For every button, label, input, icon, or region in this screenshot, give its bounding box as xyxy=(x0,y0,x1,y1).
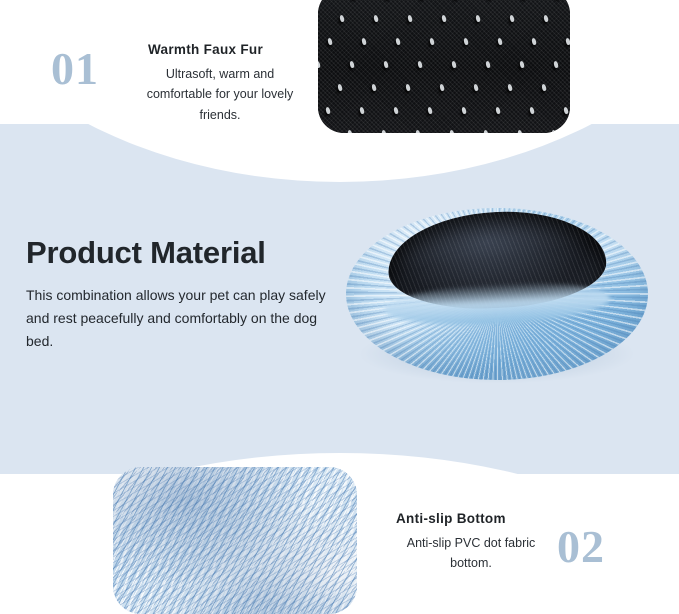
pvc-dot xyxy=(461,107,467,115)
feature-block-02: Anti-slip Bottom Anti-slip PVC dot fabri… xyxy=(396,511,546,574)
pvc-dot xyxy=(417,61,423,69)
feature-description-02: Anti-slip PVC dot fabric bottom. xyxy=(396,533,546,574)
pvc-dot xyxy=(347,130,353,133)
pvc-dot xyxy=(485,61,491,69)
feature-title-02: Anti-slip Bottom xyxy=(396,511,546,526)
fur-shading-overlay xyxy=(113,467,357,614)
pvc-dot xyxy=(393,107,399,115)
pvc-dot xyxy=(373,15,379,23)
pvc-dot xyxy=(415,130,421,133)
pvc-dot xyxy=(349,61,355,69)
pvc-dot xyxy=(325,107,331,115)
page-title: Product Material xyxy=(26,236,346,271)
pvc-dot xyxy=(531,38,537,46)
pvc-dot xyxy=(371,84,377,92)
pvc-dot xyxy=(429,38,435,46)
pvc-dot xyxy=(517,130,523,133)
pvc-dot xyxy=(541,84,547,92)
feature-description-01: Ultrasoft, warm and comfortable for your… xyxy=(140,64,300,125)
pvc-dot xyxy=(463,38,469,46)
pvc-dot xyxy=(327,38,333,46)
pvc-dot xyxy=(473,84,479,92)
blue-faux-fur-swatch xyxy=(113,467,357,614)
pvc-dot xyxy=(495,107,501,115)
pvc-dot xyxy=(529,107,535,115)
pvc-dot xyxy=(407,15,413,23)
main-text-block: Product Material This combination allows… xyxy=(26,236,346,353)
pvc-dot xyxy=(339,15,345,23)
pvc-dot xyxy=(439,84,445,92)
pvc-dot xyxy=(483,130,489,133)
pvc-dot-grid xyxy=(318,0,570,133)
pvc-dot xyxy=(361,38,367,46)
pvc-dot xyxy=(553,61,559,69)
pvc-dot xyxy=(475,15,481,23)
pvc-dot xyxy=(381,130,387,133)
pvc-dot xyxy=(359,107,365,115)
pvc-dot xyxy=(395,38,401,46)
pvc-dot xyxy=(509,15,515,23)
pvc-dot xyxy=(543,15,549,23)
pvc-dot xyxy=(451,61,457,69)
pvc-dot xyxy=(449,130,455,133)
feature-title-01: Warmth Faux Fur xyxy=(140,42,300,57)
product-material-infographic: 01 Warmth Faux Fur Ultrasoft, warm and c… xyxy=(0,0,679,614)
feature-number-01: 01 xyxy=(51,46,99,92)
pvc-dot xyxy=(405,84,411,92)
pvc-dot xyxy=(565,38,570,46)
page-description: This combination allows your pet can pla… xyxy=(26,284,346,354)
pvc-dot xyxy=(383,61,389,69)
round-plush-dog-bed-image xyxy=(336,196,658,396)
pvc-dot xyxy=(318,130,319,133)
pvc-dot-fabric-swatch xyxy=(318,0,570,133)
pvc-dot xyxy=(507,84,513,92)
pvc-dot xyxy=(551,130,557,133)
pvc-dot xyxy=(441,15,447,23)
pvc-dot xyxy=(318,61,321,69)
pvc-dot xyxy=(519,61,525,69)
pvc-dot xyxy=(337,84,343,92)
feature-number-02: 02 xyxy=(557,524,605,570)
pvc-dot xyxy=(563,107,569,115)
feature-block-01: Warmth Faux Fur Ultrasoft, warm and comf… xyxy=(140,42,300,125)
pvc-dot xyxy=(497,38,503,46)
pvc-dot xyxy=(427,107,433,115)
